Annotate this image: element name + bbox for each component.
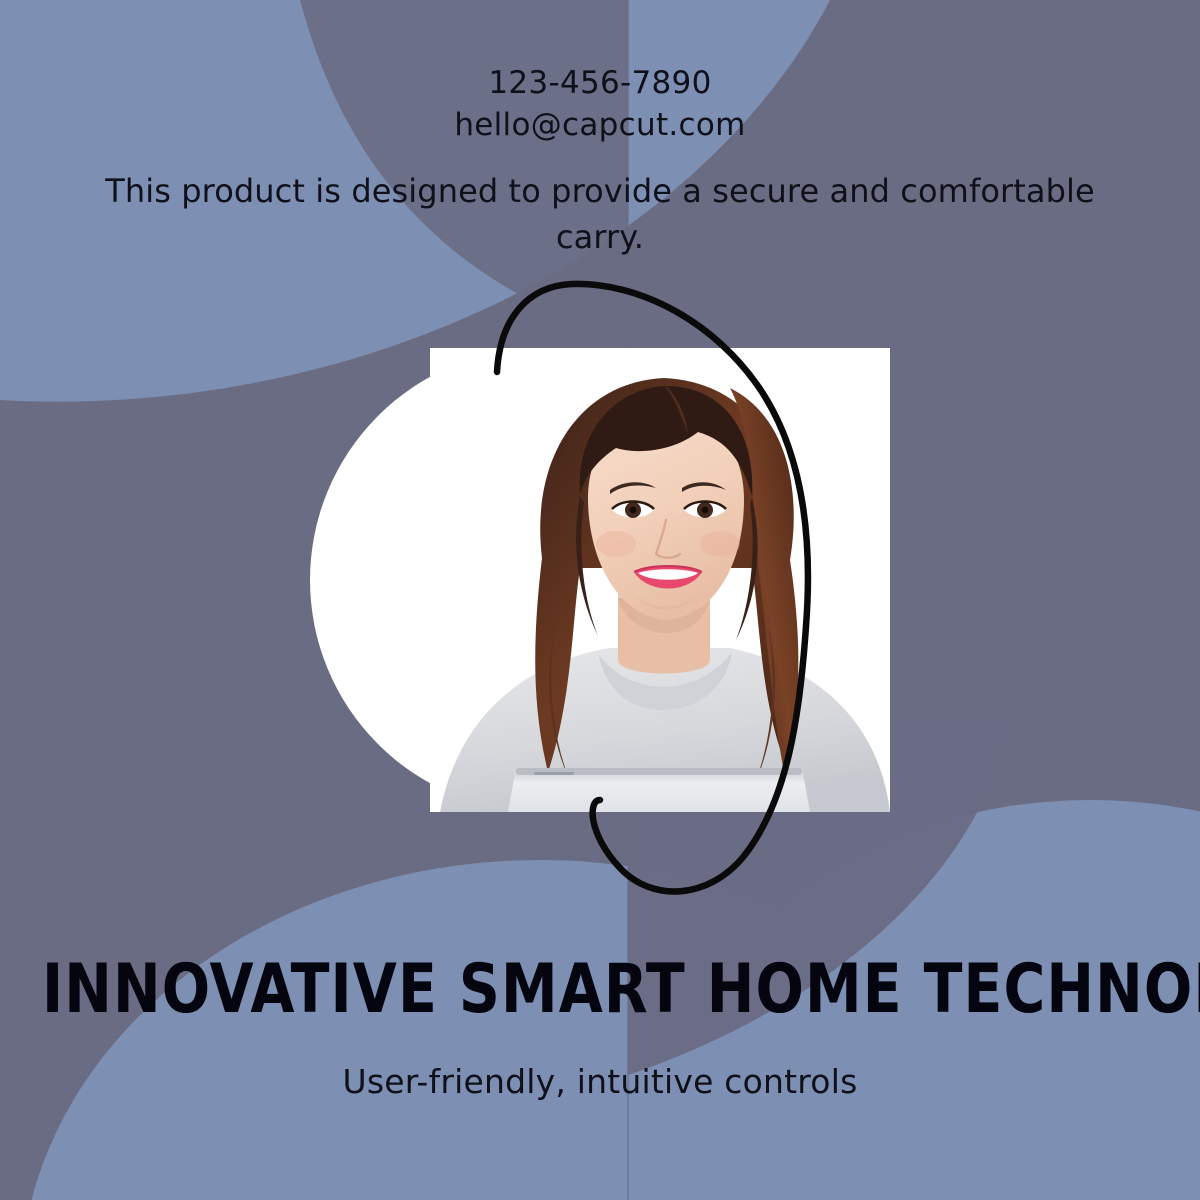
product-description: This product is designed to provide a se…	[95, 168, 1105, 260]
page-title: INNOVATIVE SMART HOME TECHNOLOGY	[42, 952, 1158, 1028]
promo-poster: 123-456-7890 hello@capcut.com This produ…	[0, 0, 1200, 1200]
contact-block: 123-456-7890 hello@capcut.com	[0, 62, 1200, 146]
contact-phone[interactable]: 123-456-7890	[0, 62, 1200, 104]
page-subtitle: User-friendly, intuitive controls	[0, 1062, 1200, 1101]
contact-email[interactable]: hello@capcut.com	[0, 104, 1200, 146]
portrait-photo	[430, 348, 890, 812]
